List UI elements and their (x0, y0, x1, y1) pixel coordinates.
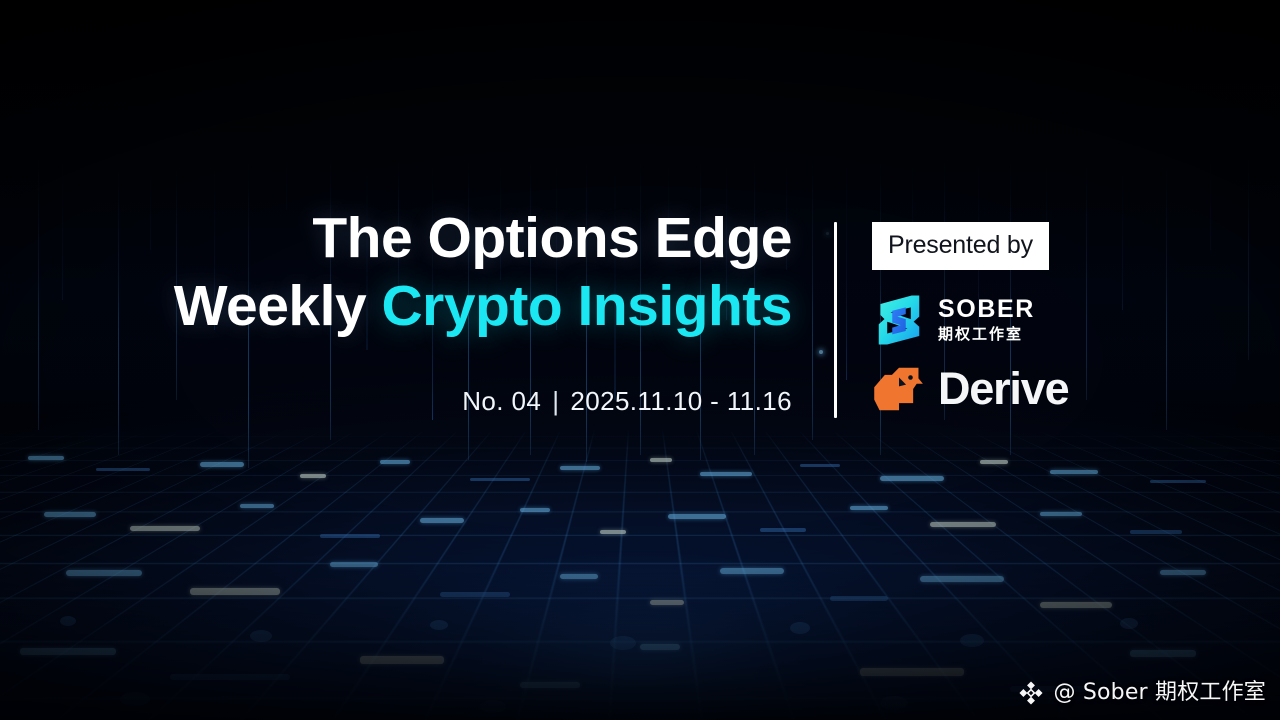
slide-root: The Options Edge Weekly Crypto Insights … (0, 0, 1280, 720)
sober-wordmark: SOBER (938, 296, 1035, 322)
sober-subtitle: 期权工作室 (938, 325, 1035, 344)
watermark: @ Sober 期权工作室 (1018, 680, 1266, 706)
brand-column: Presented by (872, 222, 1202, 412)
slide-title-block: The Options Edge Weekly Crypto Insights (0, 204, 792, 340)
derive-wordmark: Derive (938, 366, 1068, 412)
title-line-1: The Options Edge (0, 204, 792, 272)
sober-brand-lockup: SOBER 期权工作室 (872, 293, 1202, 347)
issue-meta-line: No. 04|2025.11.10 - 11.16 (0, 385, 792, 417)
meta-separator: | (541, 385, 570, 417)
presented-by-badge: Presented by (872, 222, 1049, 270)
title-line-2: Weekly Crypto Insights (0, 272, 792, 340)
watermark-text: @ Sober 期权工作室 (1053, 680, 1266, 706)
issue-date-range: 2025.11.10 - 11.16 (570, 386, 792, 416)
binance-diamond-icon (1018, 680, 1044, 706)
sober-s-logo-icon (872, 293, 926, 347)
derive-knight-logo-icon (872, 366, 926, 412)
title-line-2-white: Weekly (174, 274, 382, 338)
derive-brand-lockup: Derive (872, 366, 1202, 412)
title-line-2-accent: Crypto Insights (381, 274, 792, 338)
issue-number: No. 04 (462, 386, 541, 416)
vertical-divider (834, 222, 837, 418)
